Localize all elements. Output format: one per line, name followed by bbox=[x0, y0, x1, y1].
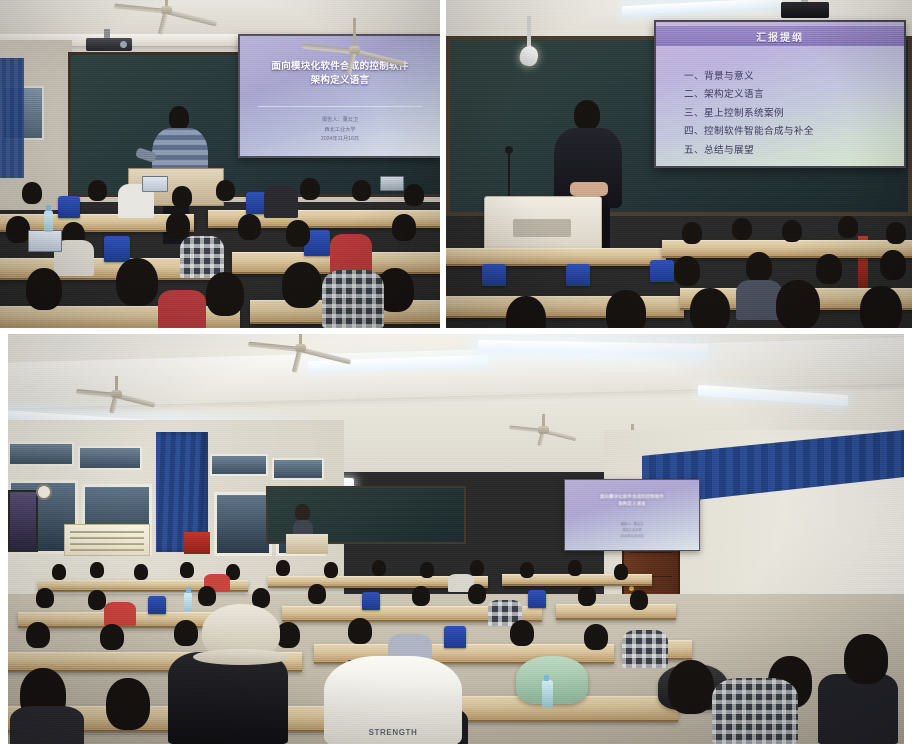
water-bottle bbox=[44, 210, 53, 232]
photo-collage: Lecture photo collage 面向模块化软件合成的控制软件 架构定… bbox=[0, 0, 912, 744]
outline-item: 二、架构定义语言 bbox=[684, 86, 894, 104]
slide-divider bbox=[258, 106, 422, 107]
water-bottle bbox=[542, 680, 553, 708]
transom-window bbox=[8, 442, 74, 466]
outline-item: 四、控制软件智能合成与补全 bbox=[684, 123, 894, 141]
transom-window bbox=[210, 454, 268, 476]
bucket-hat bbox=[202, 604, 280, 658]
slide-metadata: 报告人：董云卫 西北工业大学 2024年11月16日 bbox=[240, 116, 440, 145]
window bbox=[214, 492, 272, 556]
wall-poster bbox=[64, 524, 150, 556]
slide-header-band: 汇报提纲 bbox=[656, 26, 904, 46]
window-curtain bbox=[0, 58, 24, 178]
outline-item: 一、背景与意义 bbox=[684, 68, 894, 86]
projector-icon bbox=[781, 2, 829, 18]
projection-screen: 面向模块化软件合成的控制软件 架构定义语言 报告人：董云卫 西北工业大学 202… bbox=[564, 479, 700, 551]
student-with-hoodie: STRENGTH bbox=[324, 656, 462, 744]
photo-panel-top-left: 面向模块化软件合成的控制软件 架构定义语言 报告人：董云卫 西北工业大学 202… bbox=[0, 0, 440, 328]
front-lectern bbox=[286, 534, 328, 554]
podium-lamp-icon bbox=[527, 16, 531, 50]
wall-display bbox=[8, 490, 38, 552]
slide-title: 面向模块化软件合成的控制软件 架构定义语言 bbox=[571, 493, 693, 507]
wall-clock-icon bbox=[36, 484, 52, 500]
slide-header-text: 汇报提纲 bbox=[756, 29, 804, 44]
water-bottle bbox=[184, 592, 192, 612]
projection-screen: 面向模块化软件合成的控制软件 架构定义语言 报告人：董云卫 西北工业大学 202… bbox=[238, 34, 440, 158]
outline-item: 五、总结与展望 bbox=[684, 142, 894, 160]
laptop bbox=[142, 176, 168, 192]
microphone-icon bbox=[508, 150, 510, 198]
slide-title: 面向模块化软件合成的控制软件 架构定义语言 bbox=[246, 60, 434, 89]
wall-sign bbox=[184, 532, 210, 554]
projector-icon bbox=[86, 38, 132, 51]
slide-metadata: 报告人：董云卫 西北工业大学 2024年11月16日 bbox=[565, 522, 699, 539]
projection-screen: 汇报提纲 一、背景与意义 二、架构定义语言 三、星上控制系统案例 四、控制软件智… bbox=[654, 20, 906, 168]
hoodie-text: STRENGTH bbox=[324, 728, 462, 737]
laptop bbox=[380, 176, 404, 191]
photo-panel-bottom: 面向模块化软件合成的控制软件 架构定义语言 报告人：董云卫 西北工业大学 202… bbox=[8, 334, 904, 744]
laptop bbox=[28, 230, 62, 252]
photo-panel-top-right: 汇报提纲 一、背景与意义 二、架构定义语言 三、星上控制系统案例 四、控制软件智… bbox=[446, 0, 912, 328]
transom-window bbox=[272, 458, 324, 480]
slide-outline-list: 一、背景与意义 二、架构定义语言 三、星上控制系统案例 四、控制软件智能合成与补… bbox=[684, 68, 894, 160]
outline-item: 三、星上控制系统案例 bbox=[684, 105, 894, 123]
transom-window bbox=[78, 446, 142, 470]
